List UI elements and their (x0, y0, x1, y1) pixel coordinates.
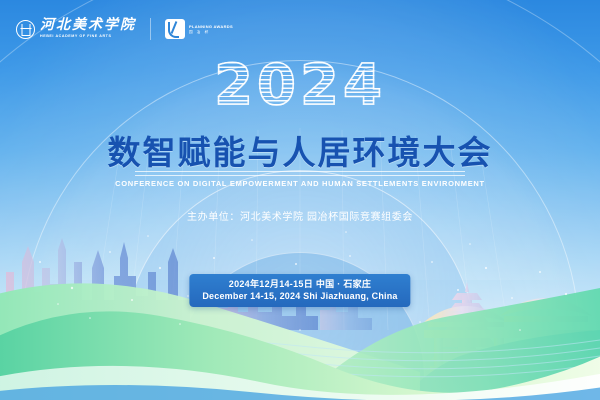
planning-logo-name-cn: 园 冶 杯 (189, 30, 233, 34)
date-location-badge: 2024年12月14-15日 中国 · 石家庄 December 14-15, … (189, 274, 410, 307)
year-text: 2024 (214, 58, 386, 114)
year-heading: 2024 (0, 58, 600, 114)
planning-logo-name-en: PLANNING AWARDS (189, 24, 233, 29)
hebei-logo-name-en: HEBEI ACADEMY OF FINE ARTS (40, 35, 138, 39)
water-band (400, 330, 600, 400)
pagoda-silhouette (430, 282, 504, 360)
date-line-cn: 2024年12月14-15日 中国 · 石家庄 (202, 278, 397, 290)
title-rule-bottom (135, 175, 465, 176)
hebei-logo-name-cn: 河北美术学院 (40, 19, 136, 33)
page-subtitle: CONFERENCE ON DIGITAL EMPOWERMENT AND HU… (0, 179, 600, 188)
planning-awards-logo[interactable]: PLANNING AWARDS 园 冶 杯 (165, 19, 233, 39)
university-seal-icon (16, 20, 35, 39)
water-ripples (0, 339, 600, 376)
organizer-line: 主办单位：河北美术学院 园冶杯国际竞赛组委会 (0, 208, 600, 223)
foreground-water (0, 385, 600, 400)
hill-front (0, 311, 600, 400)
planning-awards-mark-icon (165, 19, 185, 39)
title-rule-top (135, 171, 465, 172)
hebei-academy-logo[interactable]: 河北美术学院 HEBEI ACADEMY OF FINE ARTS (16, 19, 136, 39)
hill-foreground (0, 366, 600, 400)
chinese-gate-silhouette (424, 298, 592, 374)
conference-poster: 河北美术学院 HEBEI ACADEMY OF FINE ARTS PLANNI… (0, 0, 600, 400)
poster-header: 河北美术学院 HEBEI ACADEMY OF FINE ARTS PLANNI… (0, 0, 600, 58)
header-divider (150, 18, 151, 40)
date-line-en: December 14-15, 2024 Shi Jiazhuang, Chin… (202, 290, 397, 302)
page-title: 数智赋能与人居环境大会 (0, 126, 600, 174)
